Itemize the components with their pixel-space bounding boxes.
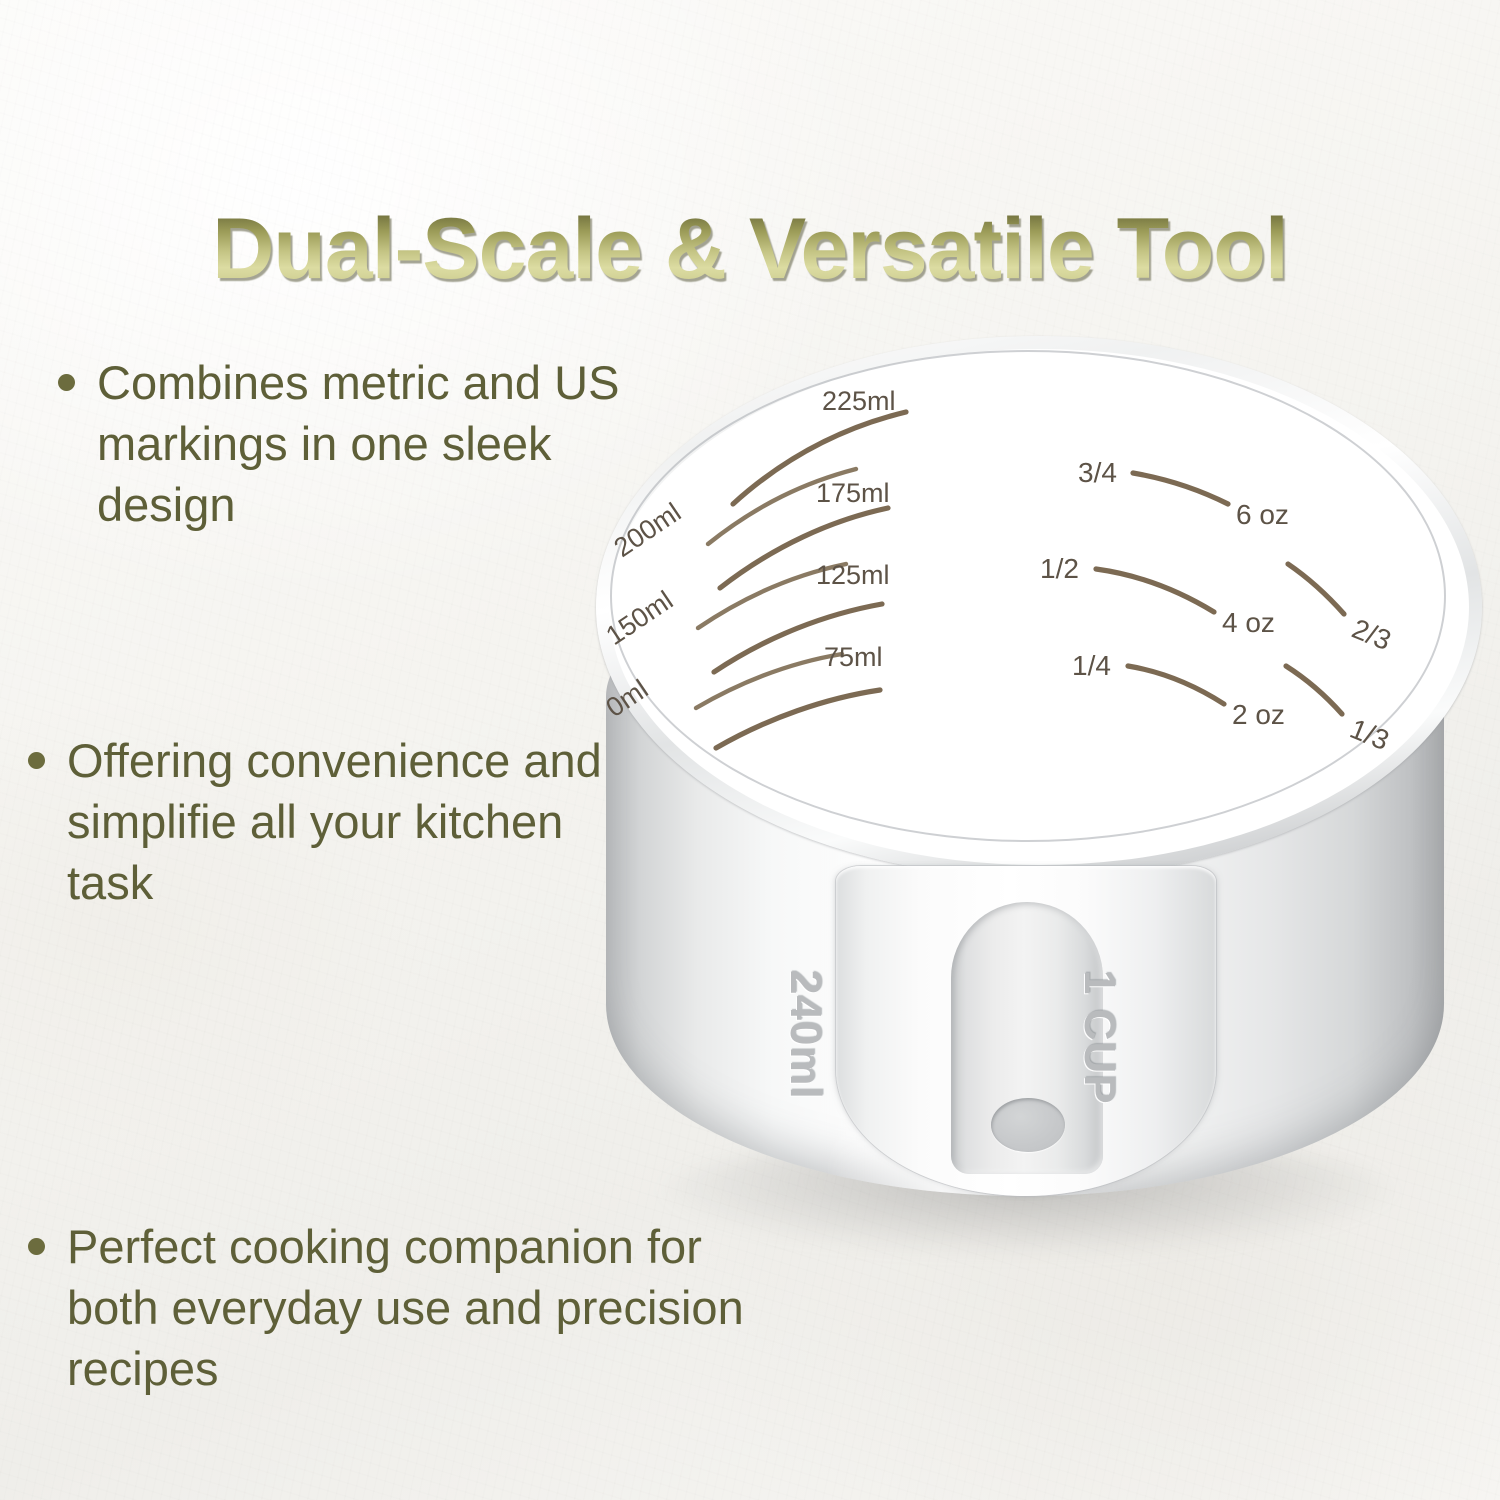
tick-100ml (696, 654, 842, 708)
label-1-2: 1/2 (1040, 553, 1079, 584)
feature-bullet-2: Offering convenience and simplifie all y… (28, 730, 648, 913)
label-75ml: 75ml (824, 642, 883, 672)
label-100ml: 0ml (601, 674, 654, 723)
tick-1-3-cup (1286, 666, 1342, 714)
label-2-oz: 2 oz (1232, 699, 1285, 730)
label-1-4: 1/4 (1072, 650, 1111, 681)
tick-2-3-cup (1288, 564, 1344, 614)
bullet-marker-icon (28, 1238, 45, 1255)
label-2-3: 2/3 (1348, 613, 1396, 656)
label-200ml: 200ml (609, 497, 687, 563)
page-title: Dual-Scale & Versatile Tool (0, 206, 1500, 292)
label-3-4: 3/4 (1078, 457, 1117, 488)
label-4-oz: 4 oz (1222, 607, 1275, 638)
label-175ml: 175ml (816, 478, 890, 508)
feature-bullet-2-text: Offering convenience and simplifie all y… (67, 730, 648, 913)
label-1-3: 1/3 (1346, 713, 1394, 756)
handle-us-emboss: 1 CUP (1074, 970, 1124, 1105)
tick-1-2-cup (1096, 569, 1214, 612)
tick-1-4-cup (1128, 666, 1224, 704)
tick-3-4-cup (1133, 473, 1228, 504)
label-125ml: 125ml (816, 560, 890, 590)
bullet-marker-icon (58, 374, 75, 391)
feature-bullet-1-text: Combines metric and US markings in one s… (97, 352, 658, 535)
bullet-marker-icon (28, 752, 45, 769)
handle-metric-emboss: 240ml (780, 970, 830, 1100)
cup-handle: 240ml 1 CUP (836, 866, 1216, 1196)
handle-hanging-hole (991, 1098, 1065, 1152)
label-225ml: 225ml (822, 386, 896, 416)
label-150ml: 150ml (601, 585, 679, 651)
measuring-cup-product-image: 225ml 175ml 125ml 75ml 200ml 150ml 0ml 3… (588, 336, 1468, 1276)
tick-75ml (716, 690, 880, 748)
feature-bullet-1: Combines metric and US markings in one s… (58, 352, 658, 535)
label-6-oz: 6 oz (1236, 499, 1289, 530)
